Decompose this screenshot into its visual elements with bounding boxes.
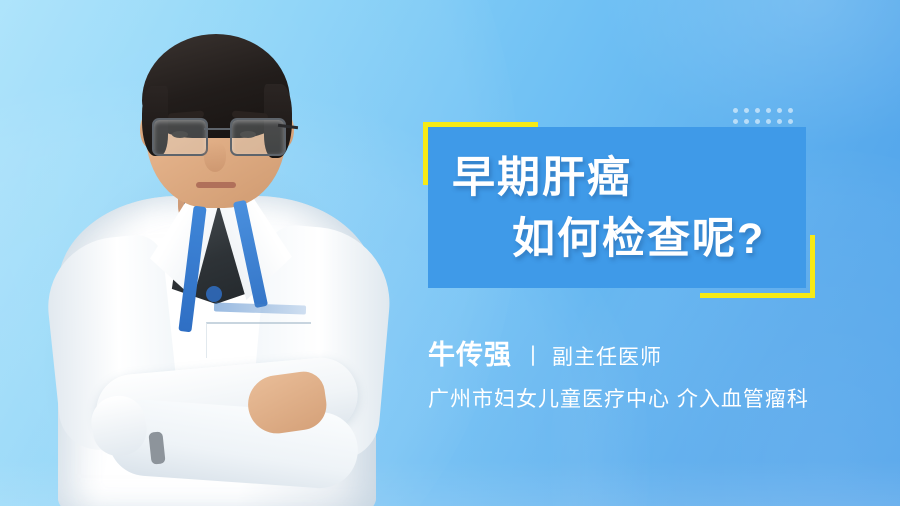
background-bottom-band [0, 460, 900, 506]
coat-cuff [87, 392, 151, 460]
ear-right [274, 112, 294, 148]
credential-separator: 丨 [522, 339, 544, 371]
arm-upper [93, 355, 360, 452]
dot [733, 108, 738, 113]
video-thumbnail: 早期肝癌 如何检查呢? 牛传强 丨 副主任医师 广州市妇女儿童医疗中心 介入血管… [0, 0, 900, 506]
coat-collar-right [216, 192, 292, 300]
glasses-temple [278, 124, 298, 129]
hair-side-right [264, 84, 292, 158]
mouth [196, 182, 236, 188]
dot [777, 108, 782, 113]
dot [744, 119, 749, 124]
dot [766, 119, 771, 124]
eyebrow-right [232, 110, 268, 120]
eye-right [240, 131, 256, 138]
credential-name-row: 牛传强 丨 副主任医师 [428, 333, 662, 372]
hair-side-left [142, 86, 168, 156]
eyebrow-left [168, 110, 204, 120]
hand [244, 369, 329, 437]
neck [178, 158, 250, 232]
dot [777, 119, 782, 124]
portrait-shadow [40, 150, 390, 506]
dot [788, 119, 793, 124]
coat-embroidered-text [214, 302, 306, 314]
glasses-lens-left [152, 118, 208, 156]
title-line-2: 如何检查呢? [512, 218, 765, 261]
eye-left [172, 131, 188, 138]
dot [733, 119, 738, 124]
dot [755, 108, 760, 113]
coat-pocket [206, 322, 311, 358]
lanyard-strap-right [233, 200, 268, 308]
coat-collar-left [150, 194, 220, 298]
doctor-name: 牛传强 [428, 333, 512, 372]
glasses-bridge [204, 128, 230, 130]
hair [142, 34, 290, 138]
eyeglasses-icon [152, 118, 282, 154]
head [146, 42, 286, 208]
glasses-lens-right [230, 118, 286, 156]
dot [766, 108, 771, 113]
ear-left [140, 112, 160, 148]
lab-coat-shoulder-left [41, 232, 182, 453]
dot [788, 108, 793, 113]
hospital-department: 广州市妇女儿童医疗中心 介入血管瘤科 [428, 383, 809, 413]
dark-shirt [168, 196, 264, 304]
title-line-1: 早期肝癌 [452, 157, 632, 200]
lanyard-strap-left [178, 206, 206, 333]
hospital-logo-icon [206, 286, 222, 302]
dot [755, 119, 760, 124]
lab-coat-shoulder-right [248, 223, 396, 463]
doctor-title: 副主任医师 [552, 341, 662, 371]
dot [744, 108, 749, 113]
doctor-portrait-photo [0, 0, 420, 506]
nose [204, 142, 226, 172]
